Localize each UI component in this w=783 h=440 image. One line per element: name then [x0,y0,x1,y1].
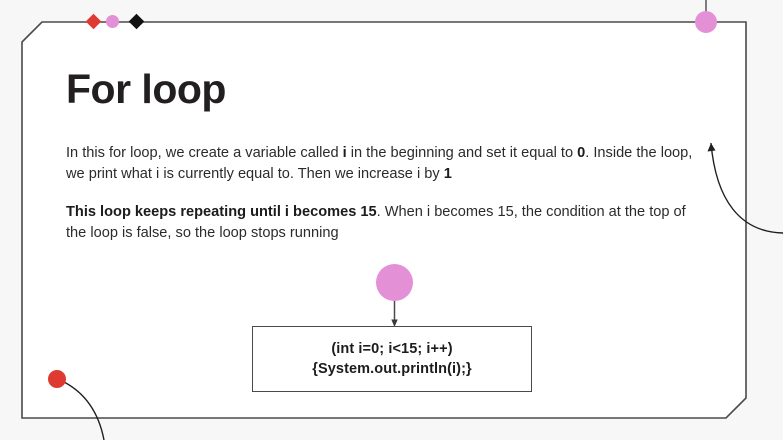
code-line-2: {System.out.println(i);} [312,359,472,379]
page-title: For loop [66,67,226,113]
code-snippet-box: (int i=0; i<15; i++) {System.out.println… [252,326,532,392]
code-line-1: (int i=0; i<15; i++) [331,339,452,359]
diamond-red-top-icon [86,14,102,30]
dot-red-bottom-icon [48,370,66,388]
paragraph-intro: In this for loop, we create a variable c… [66,143,696,185]
slide-content: For loop In this for loop, we create a v… [0,0,783,440]
diamond-black-top-icon [129,14,145,30]
dot-pink-large-icon [376,264,413,301]
paragraph-termination: This loop keeps repeating until i become… [66,202,696,244]
slide-canvas: For loop In this for loop, we create a v… [0,0,783,440]
dot-pink-corner-icon [695,11,717,33]
dot-pink-small-top-icon [106,15,119,28]
